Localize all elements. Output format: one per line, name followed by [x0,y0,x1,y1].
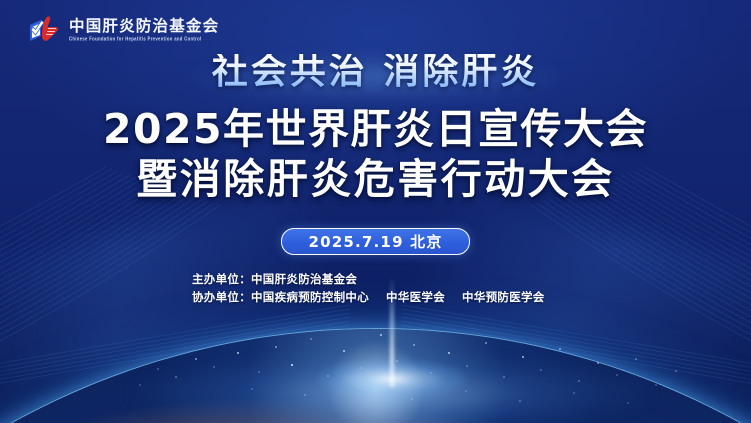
coorganizer-2: 中华医学会 [386,290,445,304]
coorganizer-1: 中国疾病预防控制中心 [251,290,369,304]
date-location-badge-row: 2025.7.19 北京 [0,228,751,255]
host-value: 中国肝炎防治基金会 [251,272,357,286]
light-flare-core [317,359,467,399]
title-line-1: 2025年世界肝炎日宣传大会 [0,104,751,154]
foundation-logo: 中国肝炎防治基金会 Chinese Foundation for Hepatit… [28,14,219,46]
host-label: 主办单位： [192,272,251,286]
title-line-2: 暨消除肝炎危害行动大会 [0,154,751,204]
date-location-badge: 2025.7.19 北京 [281,228,469,255]
logo-name-cn: 中国肝炎防治基金会 [69,19,219,35]
page-title: 2025年世界肝炎日宣传大会 暨消除肝炎危害行动大会 [0,104,751,204]
coorganizer-label: 协办单位： [192,290,251,304]
coorganizer-line: 协办单位：中国疾病预防控制中心中华医学会中华预防医学会 [192,288,545,306]
hand-book-check-logo-icon [28,14,62,46]
logo-name-en: Chinese Foundation for Hepatitis Prevent… [69,36,219,42]
coorganizer-3: 中华预防医学会 [462,290,545,304]
conference-poster: 中国肝炎防治基金会 Chinese Foundation for Hepatit… [0,0,751,423]
organizers-block: 主办单位：中国肝炎防治基金会 协办单位：中国疾病预防控制中心中华医学会中华预防医… [192,270,545,306]
slogan: 社会共治 消除肝炎 [0,54,751,90]
host-line: 主办单位：中国肝炎防治基金会 [192,270,545,288]
